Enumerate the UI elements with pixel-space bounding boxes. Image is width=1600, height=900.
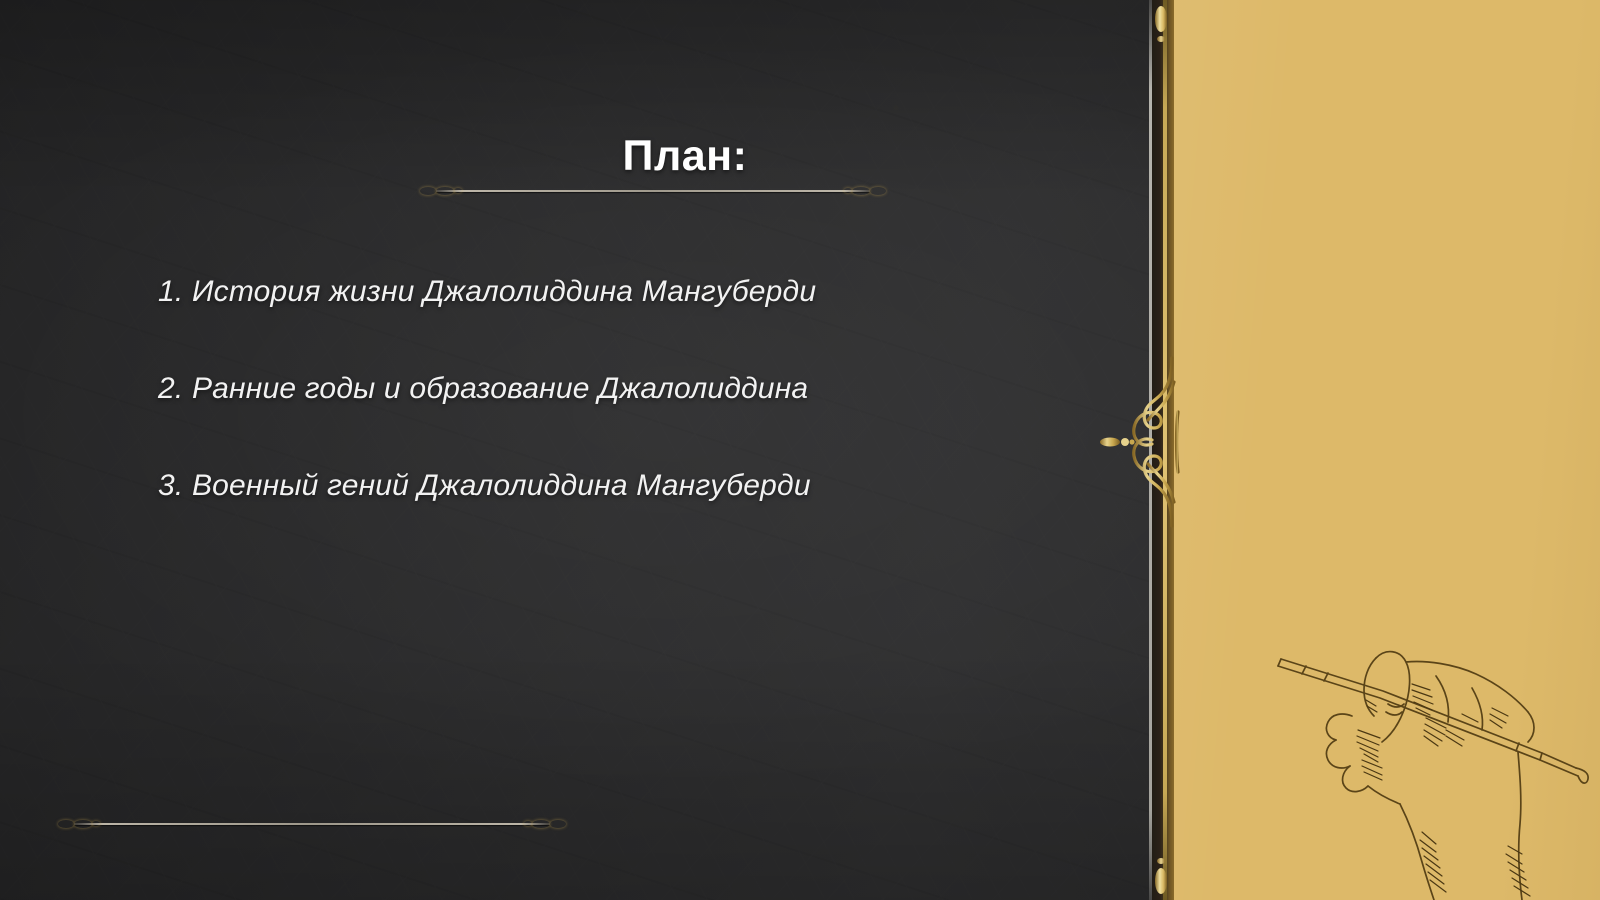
border-finial-bottom-icon xyxy=(1155,848,1167,900)
gold-filigree-flourish-icon xyxy=(1098,352,1184,532)
agenda-item-3: 3. Военный гений Джалолиддина Мангуберди xyxy=(158,469,1058,566)
title-ornamental-divider xyxy=(418,184,888,198)
divider-right-ornament-icon xyxy=(842,184,888,197)
divider-left-ornament-icon xyxy=(56,817,102,830)
presentation-slide: План: 1. История жизни Джалолиддина Манг… xyxy=(0,0,1600,900)
divider-line xyxy=(436,190,870,192)
divider-right-ornament-icon xyxy=(522,817,568,830)
divider-left-ornament-icon xyxy=(418,184,464,197)
agenda-list: 1. История жизни Джалолиддина Мангуберди… xyxy=(158,275,1058,566)
divider-line xyxy=(74,823,550,825)
agenda-item-1: 1. История жизни Джалолиддина Мангуберди xyxy=(158,275,1058,372)
hand-holding-pen-illustration xyxy=(1240,618,1600,900)
agenda-item-2: 2. Ранние годы и образование Джалолиддин… xyxy=(158,372,1058,469)
slide-title: План: xyxy=(420,134,950,179)
border-finial-top-icon xyxy=(1155,0,1167,52)
bottom-ornamental-divider xyxy=(56,817,568,831)
